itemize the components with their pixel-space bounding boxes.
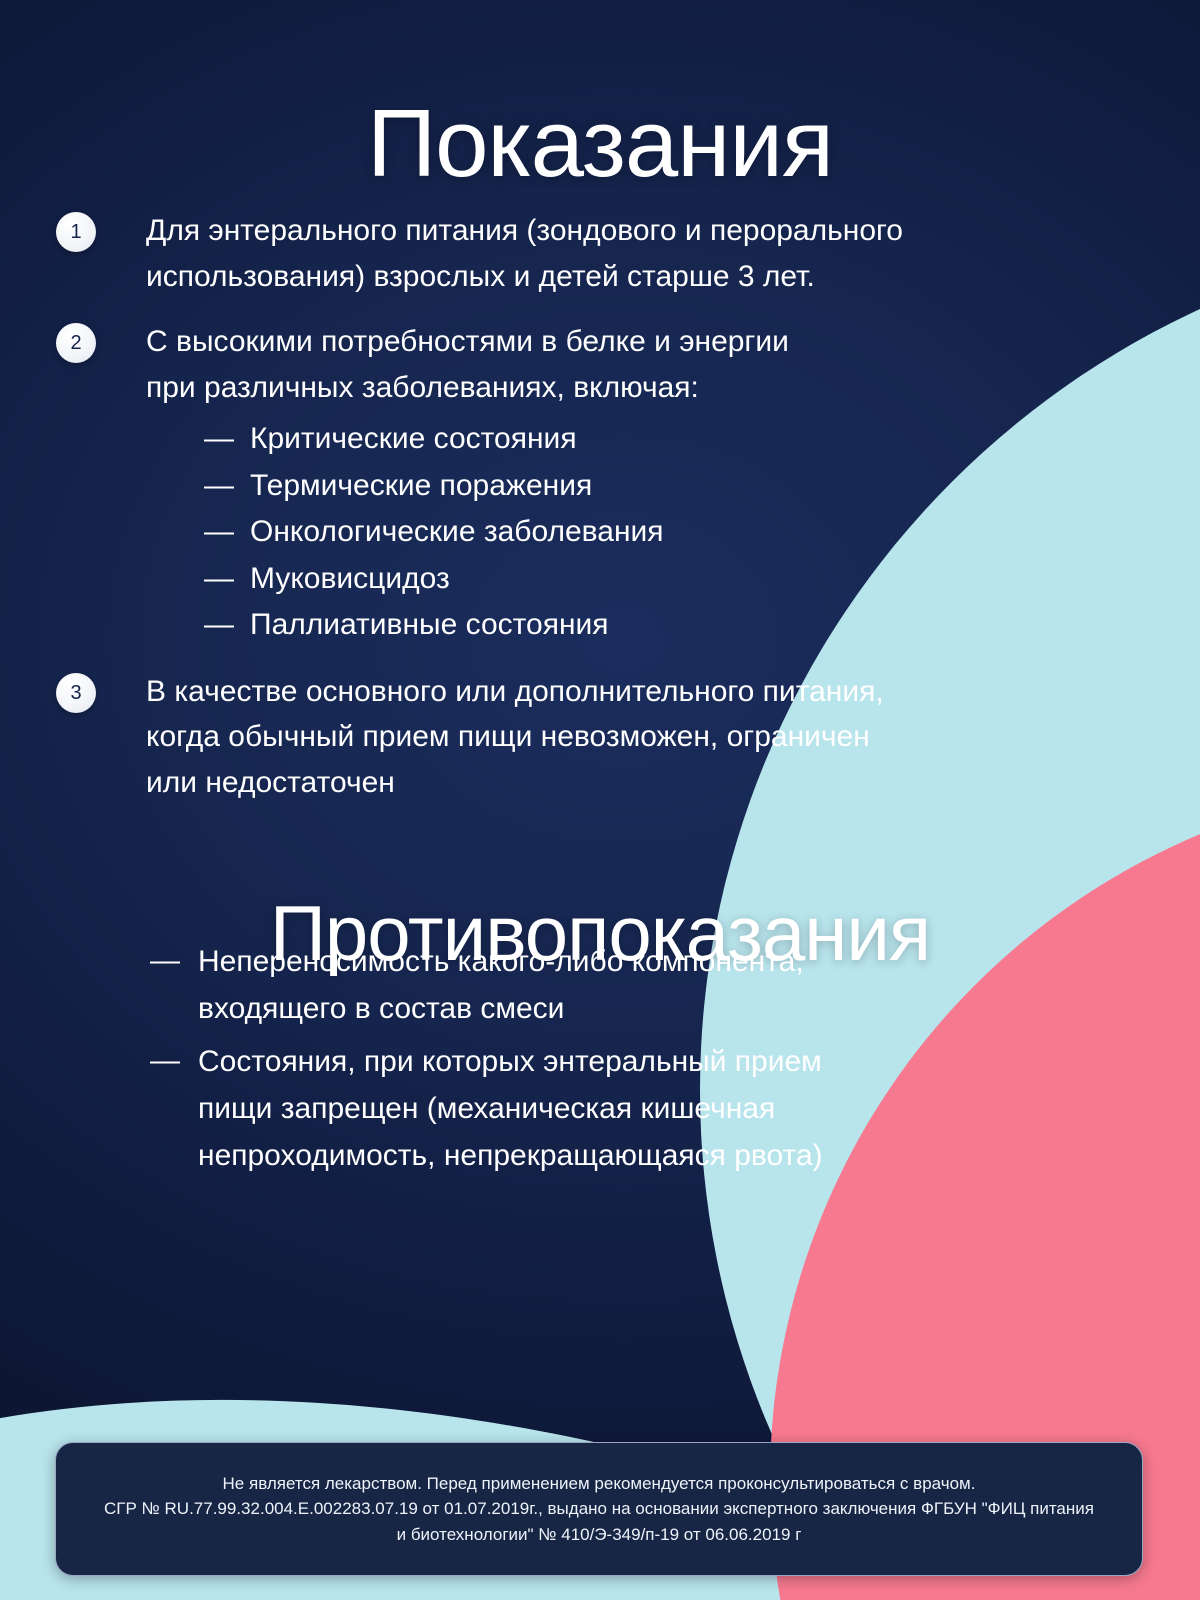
dash-bullet-icon: — bbox=[204, 602, 228, 649]
dash-bullet-icon: — bbox=[204, 556, 228, 603]
list-item: 2 С высокими потребностями в белке и эне… bbox=[56, 319, 1056, 649]
text-line: С высокими потребностями в белке и энерг… bbox=[146, 319, 789, 365]
sub-item-label: Критические состояния bbox=[250, 416, 577, 463]
poster-root: Показания 1 Для энтерального питания (зо… bbox=[0, 0, 1200, 1600]
text-line: пищи запрещен (механическая кишечная bbox=[198, 1085, 823, 1132]
text-line: Состояния, при которых энтеральный прием bbox=[198, 1038, 823, 1085]
text-line: или недостаточен bbox=[146, 760, 884, 806]
disclaimer-line: и биотехнологии" № 410/Э-349/п-19 от 06.… bbox=[397, 1522, 802, 1548]
list-item: — Термические поражения bbox=[146, 463, 789, 510]
sub-item-label: Онкологические заболевания bbox=[250, 509, 664, 556]
list-item: — Критические состояния bbox=[146, 416, 789, 463]
indications-list: 1 Для энтерального питания (зондового и … bbox=[56, 208, 1056, 826]
list-item-text: Состояния, при которых энтеральный прием… bbox=[198, 1038, 823, 1179]
dash-bullet-icon: — bbox=[150, 1038, 174, 1085]
sub-bullet-list: — Критические состояния — Термические по… bbox=[146, 416, 789, 649]
text-line: Для энтерального питания (зондового и пе… bbox=[146, 208, 903, 254]
list-item: 3 В качестве основного или дополнительно… bbox=[56, 669, 1056, 806]
list-item: — Онкологические заболевания bbox=[146, 509, 789, 556]
dash-bullet-icon: — bbox=[204, 416, 228, 463]
list-item: — Муковисцидоз bbox=[146, 556, 789, 603]
dash-bullet-icon: — bbox=[204, 509, 228, 556]
contraindications-list: — Непереносимость какого-либо компонента… bbox=[56, 938, 1056, 1185]
sub-item-label: Муковисцидоз bbox=[250, 556, 450, 603]
text-line: использования) взрослых и детей старше 3… bbox=[146, 254, 903, 300]
page-title-indications: Показания bbox=[0, 92, 1200, 196]
list-item: 1 Для энтерального питания (зондового и … bbox=[56, 208, 1056, 299]
list-item-text: Для энтерального питания (зондового и пе… bbox=[146, 208, 903, 299]
step-number-badge: 3 bbox=[56, 673, 96, 713]
sub-item-label: Термические поражения bbox=[250, 463, 592, 510]
list-item: — Состояния, при которых энтеральный при… bbox=[56, 1038, 1056, 1179]
list-item-text: В качестве основного или дополнительного… bbox=[146, 669, 884, 806]
text-line: при различных заболеваниях, включая: bbox=[146, 365, 789, 411]
list-item: — Непереносимость какого-либо компонента… bbox=[56, 938, 1056, 1032]
disclaimer-box: Не является лекарством. Перед применение… bbox=[55, 1442, 1143, 1576]
text-line: когда обычный прием пищи невозможен, огр… bbox=[146, 714, 884, 760]
text-line: Непереносимость какого-либо компонента, bbox=[198, 938, 804, 985]
sub-item-label: Паллиативные состояния bbox=[250, 602, 609, 649]
step-number-badge: 2 bbox=[56, 323, 96, 363]
text-line: В качестве основного или дополнительного… bbox=[146, 669, 884, 715]
text-line: входящего в состав смеси bbox=[198, 985, 804, 1032]
text-line: непроходимость, непрекращающаяся рвота) bbox=[198, 1132, 823, 1179]
list-item-text: С высокими потребностями в белке и энерг… bbox=[146, 319, 789, 649]
dash-bullet-icon: — bbox=[150, 938, 174, 985]
disclaimer-line: СГР № RU.77.99.32.004.Е.002283.07.19 от … bbox=[104, 1496, 1094, 1522]
list-item-text: Непереносимость какого-либо компонента, … bbox=[198, 938, 804, 1032]
dash-bullet-icon: — bbox=[204, 463, 228, 510]
list-item: — Паллиативные состояния bbox=[146, 602, 789, 649]
disclaimer-line: Не является лекарством. Перед применение… bbox=[223, 1471, 976, 1497]
step-number-badge: 1 bbox=[56, 212, 96, 252]
